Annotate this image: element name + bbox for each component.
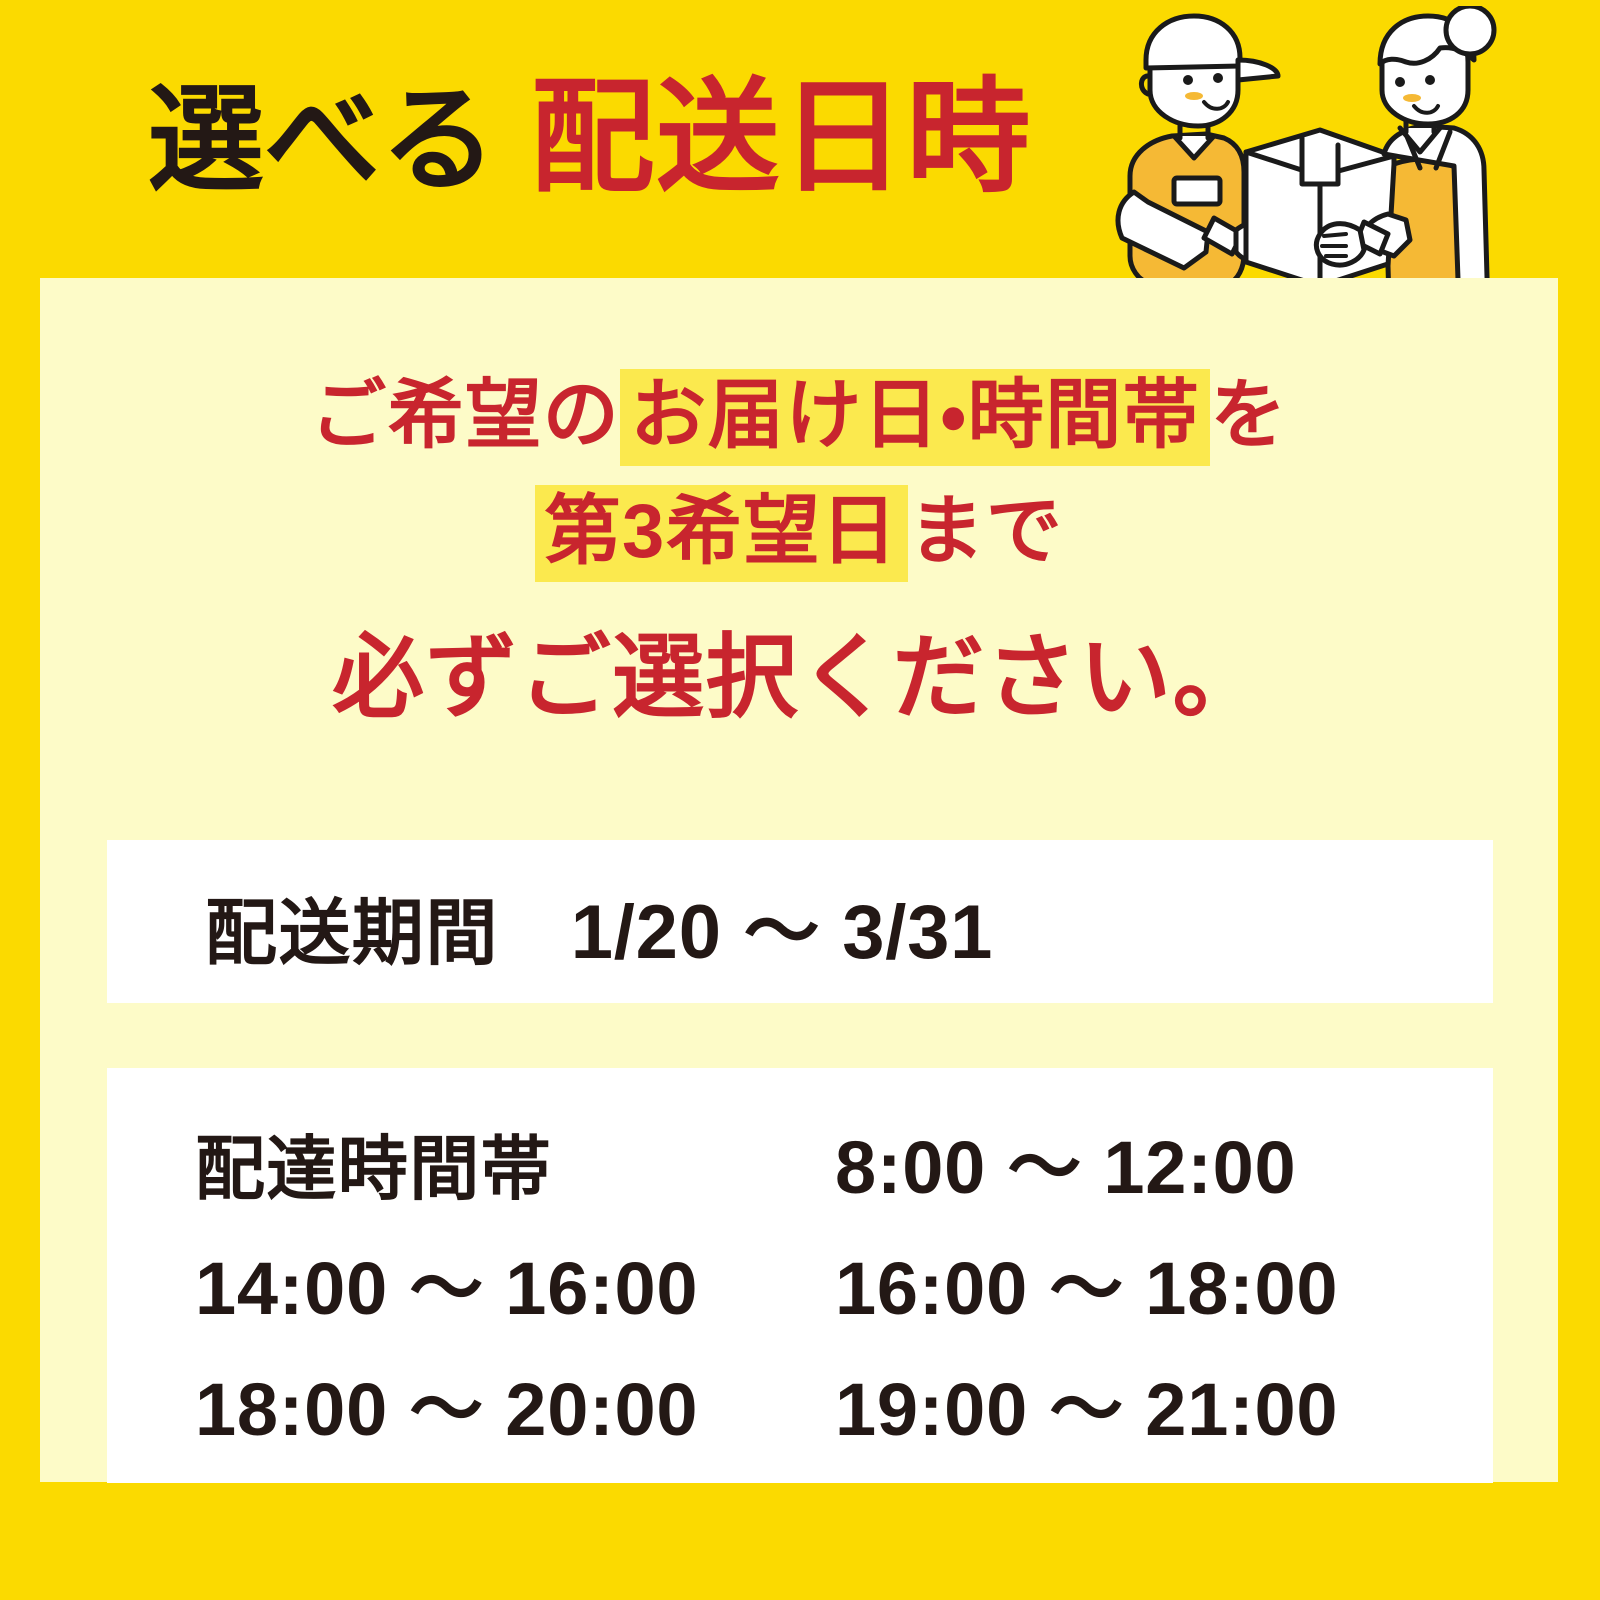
timeslot-value[interactable]: 16:00 〜 18:00 [835, 1229, 1338, 1336]
timeslot-row: 14:00 〜 16:00 16:00 〜 18:00 [195, 1229, 1435, 1336]
header-band: 選べる 配送日時 [0, 0, 1600, 278]
delivery-period-card: 配送期間 1/20 〜 3/31 [107, 840, 1493, 1003]
lead-line1-suffix: を [1210, 373, 1288, 458]
lead-line2-highlight: 第3希望日 [535, 485, 909, 582]
page-title-accent: 配送日時 [530, 76, 1031, 200]
delivery-timeslots-grid: 配達時間帯 8:00 〜 12:00 14:00 〜 16:00 16:00 〜… [195, 1108, 1435, 1471]
timeslot-value[interactable]: 19:00 〜 21:00 [835, 1350, 1338, 1457]
lead-line1-highlight: お届け日・時間帯 [620, 369, 1210, 466]
timeslot-row: 18:00 〜 20:00 19:00 〜 21:00 [195, 1350, 1435, 1457]
timeslot-value[interactable]: 8:00 〜 12:00 [835, 1108, 1296, 1215]
delivery-period-label: 配送期間 [205, 874, 499, 979]
page-title: 選べる 配送日時 [148, 76, 1031, 200]
lead-line2-suffix: まで [908, 489, 1063, 574]
lead-line1-prefix: ご希望の [310, 373, 620, 458]
delivery-info-poster: 選べる 配送日時 [0, 0, 1600, 1600]
page-title-plain: 選べる [148, 82, 496, 198]
delivery-timeslots-card: 配達時間帯 8:00 〜 12:00 14:00 〜 16:00 16:00 〜… [107, 1068, 1493, 1483]
lead-line-2: 第3希望日まで [40, 474, 1558, 590]
timeslot-row: 配達時間帯 8:00 〜 12:00 [195, 1108, 1435, 1215]
lead-line-1: ご希望のお届け日・時間帯を [40, 358, 1558, 474]
lead-copy: ご希望のお届け日・時間帯を 第3希望日まで 必ずご選択ください。 [40, 358, 1558, 744]
timeslot-value[interactable]: 18:00 〜 20:00 [195, 1350, 835, 1457]
timeslot-value[interactable]: 14:00 〜 16:00 [195, 1229, 835, 1336]
content-panel: ご希望のお届け日・時間帯を 第3希望日まで 必ずご選択ください。 配送期間 1/… [40, 278, 1558, 1482]
delivery-period-value: 1/20 〜 3/31 [571, 870, 993, 980]
lead-line-3: 必ずご選択ください。 [40, 613, 1558, 744]
delivery-timeslots-label: 配達時間帯 [195, 1113, 835, 1214]
delivery-period-row: 配送期間 1/20 〜 3/31 [205, 870, 993, 980]
